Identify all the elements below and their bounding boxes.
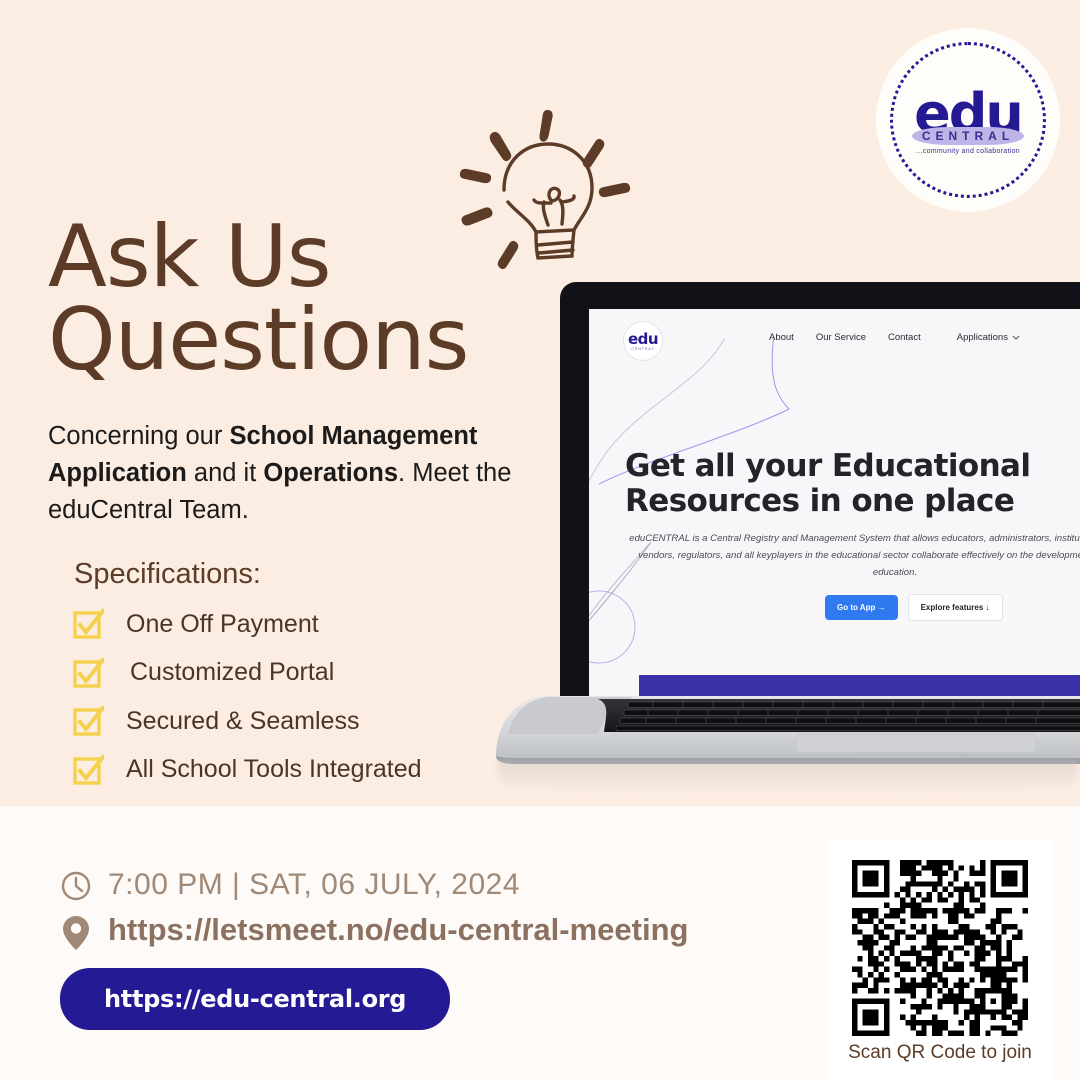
specifications-title: Specifications: [74,558,261,591]
laptop-screen: edu CENTRAL AboutOur ServiceContactAppli… [589,309,1080,697]
specification-item: Customized Portal [72,649,542,698]
site-nav-item-contact[interactable]: Contact [888,332,921,343]
clock-icon [60,870,92,902]
event-meeting-url[interactable]: https://letsmeet.no/edu-central-meeting [108,912,688,948]
site-logo-subtext: CENTRAL [631,347,654,351]
explore-features-button[interactable]: Explore features ↓ [908,594,1003,621]
checkbox-checked-icon [72,657,104,689]
site-hero-heading: Get all your Educational Resources in on… [625,449,1080,518]
site-nav-label: Applications [957,332,1008,343]
site-logo-wordmark: edu [628,332,658,347]
chevron-down-icon [1012,335,1020,340]
specification-label: Secured & Seamless [126,707,359,736]
specifications-list: One Off PaymentCustomized PortalSecured … [72,600,542,794]
qr-caption: Scan QR Code to join [828,1042,1052,1064]
specification-item: All School Tools Integrated [72,746,542,795]
brand-logo-ring: edu CENTRAL ...community and collaborati… [890,42,1046,198]
site-nav-item-our-service[interactable]: Our Service [816,332,866,343]
laptop-reflection [498,760,1078,794]
specification-label: One Off Payment [126,610,319,639]
specification-label: Customized Portal [130,658,334,687]
site-hero-heading-line-2: Resources in one place [625,484,1080,519]
checkbox-checked-icon [72,754,104,786]
brand-logo: edu CENTRAL ...community and collaborati… [876,28,1060,212]
checkbox-checked-icon [72,705,104,737]
site-hero-buttons: Go to App → Explore features ↓ [825,594,1003,621]
cta-website-button[interactable]: https://edu-central.org [60,968,450,1030]
subheading-part-0: Concerning our [48,422,229,450]
subheading-part-3: Operations [263,459,398,487]
laptop-mockup: edu CENTRAL AboutOur ServiceContactAppli… [478,282,1080,812]
go-to-app-button[interactable]: Go to App → [825,595,898,620]
subheading-part-2: and it [187,459,264,487]
qr-panel: Scan QR Code to join [828,840,1052,1080]
poster-canvas: edu CENTRAL ...community and collaborati… [0,0,1080,1080]
site-nav-item-applications[interactable]: Applications [957,332,1020,343]
specification-item: One Off Payment [72,600,542,649]
brand-logo-tagline: ...community and collaboration [916,148,1020,155]
event-time-and-date: 7:00 PM | SAT, 06 JULY, 2024 [108,868,520,902]
laptop-base [478,694,1080,766]
site-nav-item-about[interactable]: About [769,332,794,343]
location-pin-icon [62,915,90,951]
brand-logo-banner: CENTRAL [912,127,1024,145]
site-hero-paragraph: eduCENTRAL is a Central Registry and Man… [615,531,1080,581]
site-logo: edu CENTRAL [623,321,663,361]
specification-item: Secured & Seamless [72,697,542,746]
site-hero-heading-line-1: Get all your Educational [625,449,1080,484]
site-navigation[interactable]: AboutOur ServiceContactApplications [769,332,1020,343]
specification-label: All School Tools Integrated [126,755,422,784]
qr-code-image[interactable] [852,860,1028,1036]
checkbox-checked-icon [72,608,104,640]
